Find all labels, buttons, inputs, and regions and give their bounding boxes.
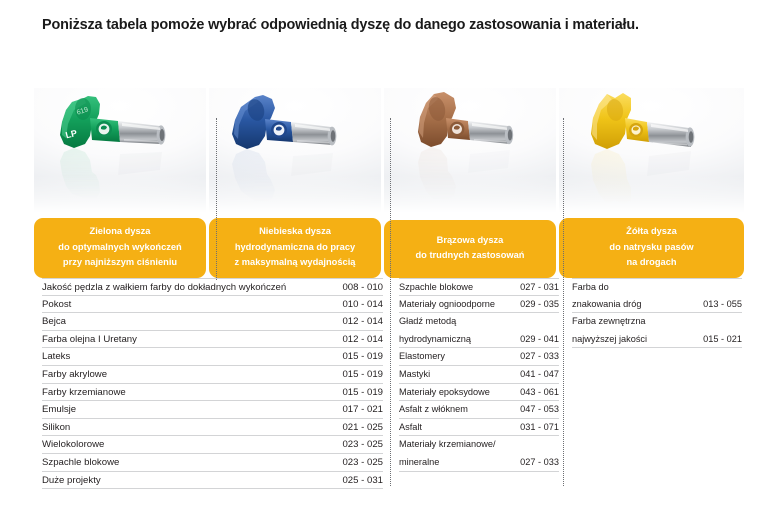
caption-yellow: Żółta dysza do natrysku pasów na drogach	[559, 218, 744, 278]
nozzle-selection-page: Poniższa tabela pomoże wybrać odpowiedni…	[0, 0, 777, 513]
row-label: najwyższej jakości	[572, 331, 653, 349]
row-label: Asfalt	[399, 419, 428, 437]
row-value: 027 - 033	[520, 348, 559, 366]
table-row: Wielokolorowe 023 - 025	[42, 436, 383, 454]
row-value: 025 - 031	[342, 472, 383, 490]
row-label: Farba olejna I Uretany	[42, 331, 143, 349]
row-value: 029 - 041	[520, 331, 559, 349]
row-label: hydrodynamiczną	[399, 331, 477, 349]
blue-nozzle-image	[209, 88, 381, 218]
table-row: znakowania dróg 013 - 055	[572, 296, 742, 314]
row-value: 013 - 055	[703, 296, 742, 314]
row-value: 012 - 014	[342, 331, 383, 349]
yellow-nozzle-image	[559, 88, 744, 218]
row-label: Lateks	[42, 348, 76, 366]
row-value: 017 - 021	[342, 401, 383, 419]
row-label: Farba zewnętrzna	[572, 313, 652, 331]
row-label: Farby akrylowe	[42, 366, 113, 384]
brown-nozzle-image	[384, 88, 556, 218]
caption-yellow-line-3: na drogach	[565, 255, 738, 271]
row-label: Elastomery	[399, 348, 451, 366]
row-value: 010 - 014	[342, 296, 383, 314]
row-value: 027 - 031	[520, 279, 559, 297]
caption-brown: Brązowa dysza do trudnych zastosowań	[384, 220, 556, 278]
column-divider-3	[563, 118, 564, 486]
table-row: Farby akrylowe 015 - 019	[42, 366, 383, 384]
row-label: Bejca	[42, 313, 72, 331]
row-value: 029 - 035	[520, 296, 559, 314]
row-value: 015 - 019	[342, 348, 383, 366]
row-value: 023 - 025	[342, 454, 383, 472]
table-row: Bejca 012 - 014	[42, 313, 383, 331]
row-value: 041 - 047	[520, 366, 559, 384]
row-value: 015 - 019	[342, 366, 383, 384]
caption-brown-line-1: Brązowa dysza	[390, 233, 550, 249]
row-label: mineralne	[399, 454, 445, 472]
row-label: Materiały krzemianowe/	[399, 436, 502, 454]
row-label: Materiały ognioodporne	[399, 296, 501, 314]
nozzle-panel-yellow: Żółta dysza do natrysku pasów na drogach	[559, 88, 744, 278]
row-label: Duże projekty	[42, 472, 107, 490]
row-label: Gładź metodą	[399, 313, 462, 331]
row-value: 031 - 071	[520, 419, 559, 437]
row-value: 023 - 025	[342, 436, 383, 454]
row-label: Emulsje	[42, 401, 82, 419]
table-row: Lateks 015 - 019	[42, 348, 383, 366]
table-row: Szpachle blokowe 023 - 025	[42, 454, 383, 472]
row-value: 043 - 061	[520, 384, 559, 402]
row-value: 047 - 053	[520, 401, 559, 419]
table-row: Asfalt 031 - 071	[399, 419, 559, 437]
caption-yellow-line-1: Żółta dysza	[565, 224, 738, 240]
caption-green: Zielona dysza do optymalnych wykończeń p…	[34, 218, 206, 278]
nozzle-panel-brown: Brązowa dysza do trudnych zastosowań	[384, 88, 556, 278]
row-value: 015 - 021	[703, 331, 742, 349]
table-row: Duże projekty 025 - 031	[42, 472, 383, 490]
caption-brown-line-2: do trudnych zastosowań	[390, 248, 550, 264]
nozzle-panel-green: 619 LP	[34, 88, 206, 278]
table-row: Jakość pędzla z wałkiem farby do dokładn…	[42, 278, 383, 296]
table-row: Elastomery 027 - 033	[399, 348, 559, 366]
table-row: Materiały krzemianowe/	[399, 436, 559, 454]
nozzle-panels: 619 LP	[34, 88, 744, 278]
caption-green-line-2: do optymalnych wykończeń	[40, 240, 200, 256]
row-label: Wielokolorowe	[42, 436, 110, 454]
table-row: Farba zewnętrzna	[572, 313, 742, 331]
row-value: 008 - 010	[342, 279, 383, 297]
table-row: Farba olejna I Uretany 012 - 014	[42, 331, 383, 349]
table-row: mineralne 027 - 033	[399, 454, 559, 472]
row-label: Pokost	[42, 296, 77, 314]
caption-green-line-1: Zielona dysza	[40, 224, 200, 240]
row-label: Jakość pędzla z wałkiem farby do dokładn…	[42, 279, 292, 297]
page-title: Poniższa tabela pomoże wybrać odpowiedni…	[42, 17, 742, 33]
row-label: Silikon	[42, 419, 76, 437]
row-label: Materiały epoksydowe	[399, 384, 496, 402]
row-value: 015 - 019	[342, 384, 383, 402]
table-row: Farby krzemianowe 015 - 019	[42, 384, 383, 402]
table-row: najwyższej jakości 015 - 021	[572, 331, 742, 349]
row-label: Farby krzemianowe	[42, 384, 132, 402]
table-row: hydrodynamiczną 029 - 041	[399, 331, 559, 349]
table-row: Mastyki 041 - 047	[399, 366, 559, 384]
row-label: Szpachle blokowe	[42, 454, 125, 472]
row-value: 027 - 033	[520, 454, 559, 472]
row-label: Mastyki	[399, 366, 436, 384]
table-row: Asfalt z włóknem 047 - 053	[399, 401, 559, 419]
caption-blue-line-2: hydrodynamiczna do pracy	[215, 240, 375, 256]
table-row: Materiały epoksydowe 043 - 061	[399, 384, 559, 402]
table-row: Szpachle blokowe 027 - 031	[399, 278, 559, 296]
caption-blue-line-3: z maksymalną wydajnością	[215, 255, 375, 271]
caption-blue: Niebieska dysza hydrodynamiczna do pracy…	[209, 218, 381, 278]
caption-yellow-line-2: do natrysku pasów	[565, 240, 738, 256]
column-divider-1	[216, 118, 217, 280]
row-label: Farba do	[572, 279, 615, 297]
table-row: Emulsje 017 - 021	[42, 401, 383, 419]
table-brown: Szpachle blokowe 027 - 031 Materiały ogn…	[399, 278, 559, 472]
caption-blue-line-1: Niebieska dysza	[215, 224, 375, 240]
nozzle-panel-blue: Niebieska dysza hydrodynamiczna do pracy…	[209, 88, 381, 278]
table-row: Pokost 010 - 014	[42, 296, 383, 314]
table-row: Farba do	[572, 278, 742, 296]
row-label: znakowania dróg	[572, 296, 647, 314]
row-label: Asfalt z włóknem	[399, 401, 474, 419]
table-green-blue: Jakość pędzla z wałkiem farby do dokładn…	[42, 278, 383, 489]
table-row: Gładź metodą	[399, 313, 559, 331]
row-value: 012 - 014	[342, 313, 383, 331]
row-value: 021 - 025	[342, 419, 383, 437]
column-divider-2	[390, 118, 391, 486]
caption-green-line-3: przy najniższym ciśnieniu	[40, 255, 200, 271]
table-row: Silikon 021 - 025	[42, 419, 383, 437]
table-yellow: Farba do znakowania dróg 013 - 055 Farba…	[572, 278, 742, 348]
table-row: Materiały ognioodporne 029 - 035	[399, 296, 559, 314]
row-label: Szpachle blokowe	[399, 279, 479, 297]
green-nozzle-image: 619 LP	[34, 88, 206, 218]
